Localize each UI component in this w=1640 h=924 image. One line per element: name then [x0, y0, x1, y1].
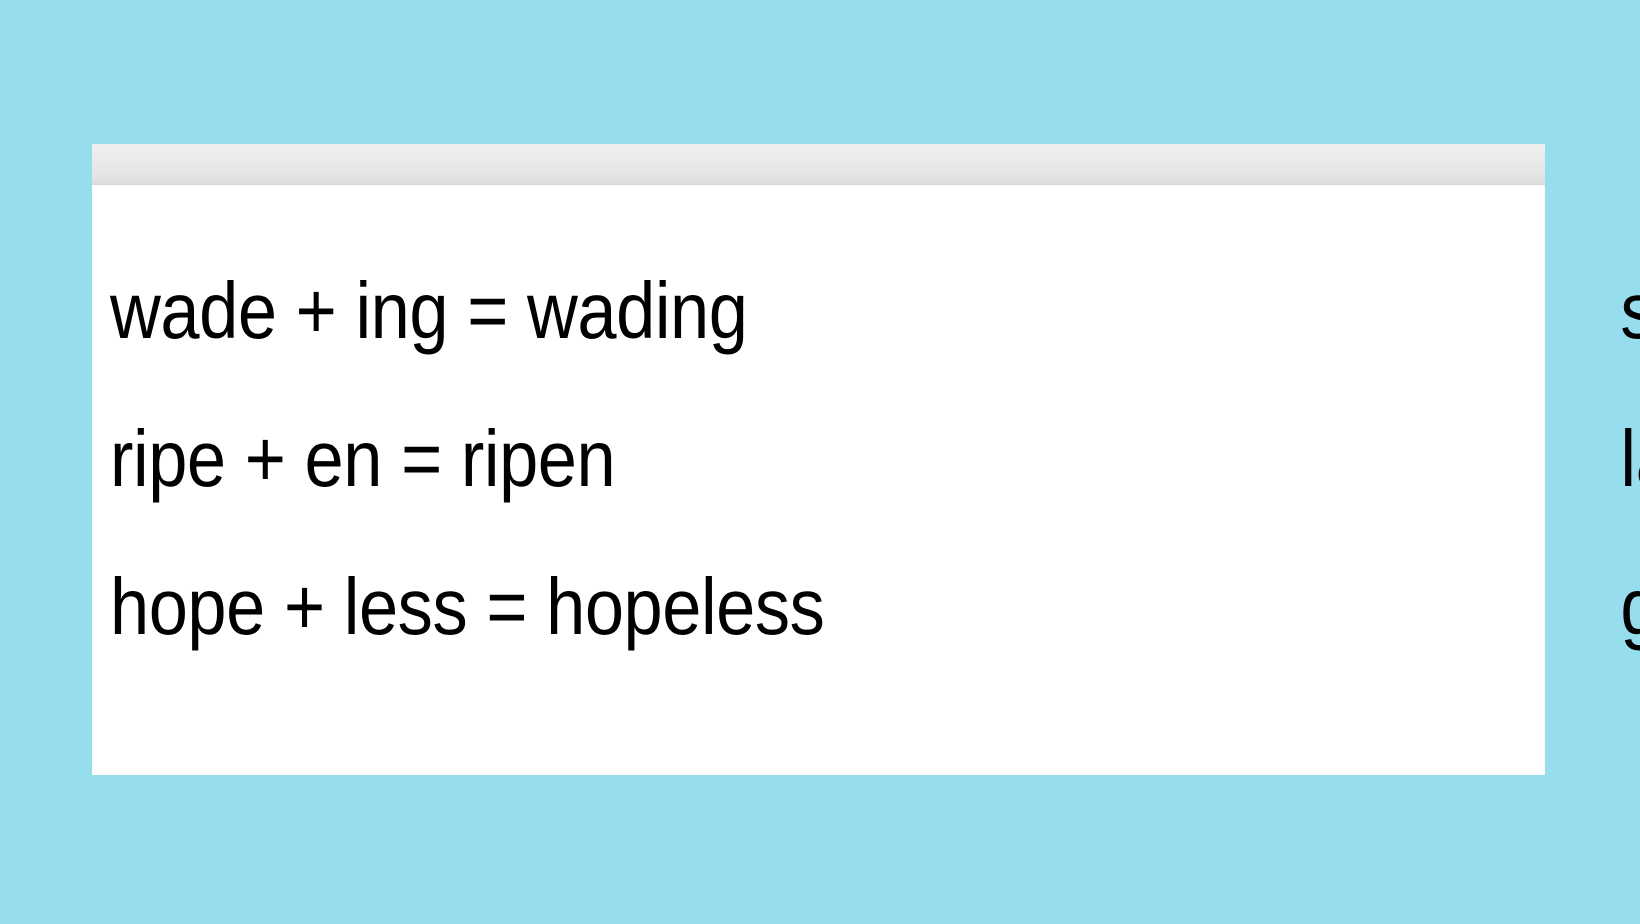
equation-row: ripe + en = ripen	[110, 419, 777, 499]
equation-row: hope + less = hopeless	[110, 567, 777, 647]
word-equation-grid: wade + ing = wading skate + er = skater …	[110, 237, 1545, 681]
equation-row: skate + er = skater	[868, 271, 1640, 351]
card-body: wade + ing = wading skate + er = skater …	[92, 185, 1545, 775]
equation-row: grace + ful = graceful	[868, 567, 1640, 647]
slide-root: wade + ing = wading skate + er = skater …	[0, 0, 1640, 924]
content-card: wade + ing = wading skate + er = skater …	[92, 144, 1545, 775]
card-header-bar	[92, 144, 1545, 185]
equation-row: wade + ing = wading	[110, 271, 777, 351]
equation-row: late + ly = lately	[868, 419, 1640, 499]
